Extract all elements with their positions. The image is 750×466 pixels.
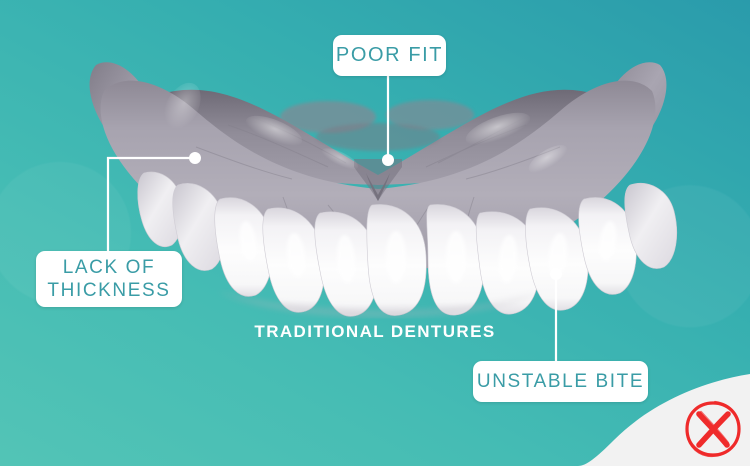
callout-lack-of-thickness[interactable]: LACK OF THICKNESS bbox=[36, 251, 182, 307]
rejected-x-mark-icon bbox=[682, 398, 744, 460]
callout-unstable-bite[interactable]: UNSTABLE BITE bbox=[473, 361, 648, 402]
page-title: TRADITIONAL DENTURES bbox=[0, 322, 750, 342]
callout-poor-fit[interactable]: POOR FIT bbox=[333, 35, 446, 76]
infographic-canvas: POOR FIT LACK OF THICKNESS UNSTABLE BITE… bbox=[0, 0, 750, 466]
